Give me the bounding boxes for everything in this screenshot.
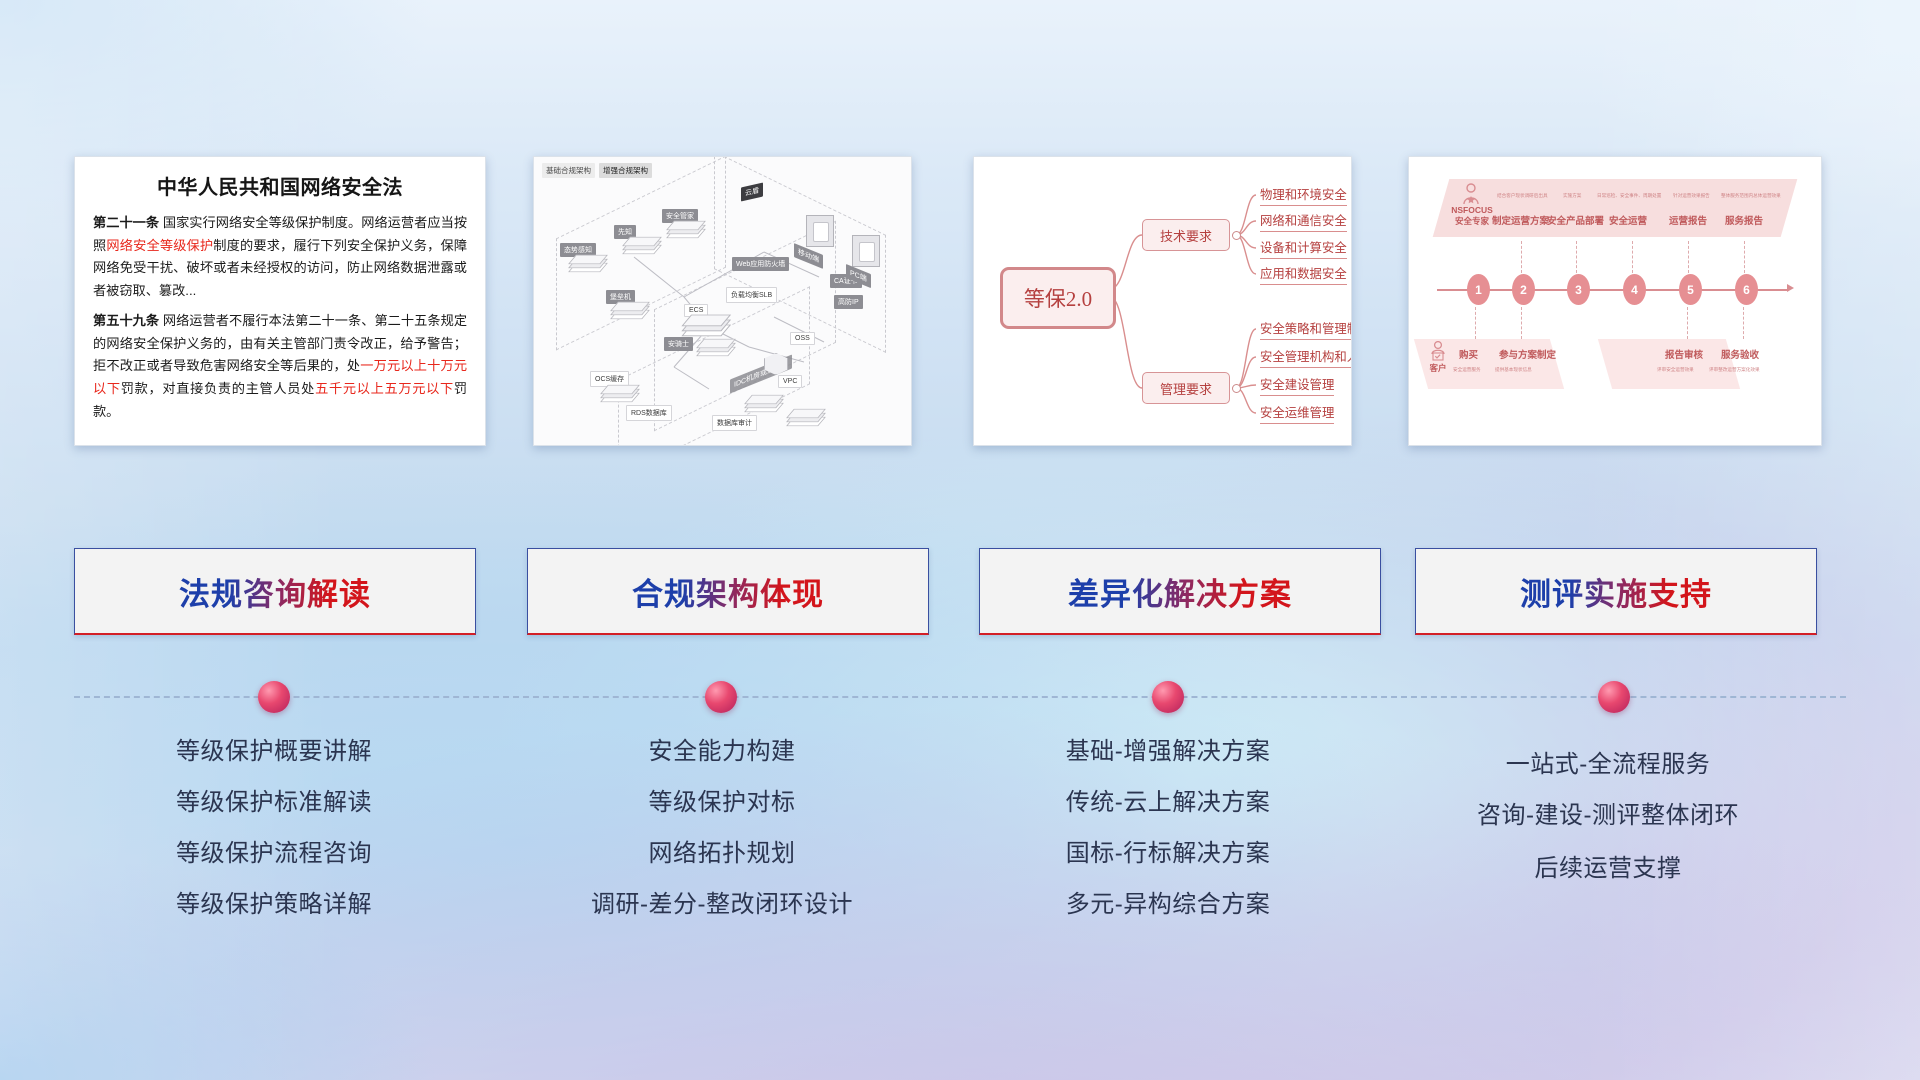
section-items-column-4: 一站式-全流程服务 咨询-建设-测评整体闭环 后续运营支撑	[1398, 740, 1818, 908]
list-item: 调研-差分-整改闭环设计	[512, 893, 932, 917]
rail-dot-3[interactable]	[1152, 681, 1184, 713]
list-item: 后续运营支撑	[1398, 857, 1818, 881]
rail-dot-2[interactable]	[705, 681, 737, 713]
section-heading-box-2[interactable]: 合规架构体现	[527, 548, 929, 635]
list-item: 等级保护标准解读	[64, 791, 484, 815]
section-heading-label-1: 法规咨询解读	[179, 569, 371, 614]
divider-rail	[74, 696, 1846, 700]
list-item: 网络拓扑规划	[512, 842, 932, 866]
list-item: 国标-行标解决方案	[958, 842, 1378, 866]
list-item: 一站式-全流程服务	[1398, 753, 1818, 777]
list-item: 等级保护对标	[512, 791, 932, 815]
list-item: 等级保护流程咨询	[64, 842, 484, 866]
list-item: 等级保护策略详解	[64, 893, 484, 917]
list-item: 安全能力构建	[512, 740, 932, 764]
list-item: 传统-云上解决方案	[958, 791, 1378, 815]
list-item: 多元-异构综合方案	[958, 893, 1378, 917]
section-items-column-2: 安全能力构建 等级保护对标 网络拓扑规划 调研-差分-整改闭环设计	[512, 740, 932, 944]
section-heading-box-1[interactable]: 法规咨询解读	[74, 548, 476, 635]
section-heading-label-4: 测评实施支持	[1520, 569, 1712, 614]
section-heading-box-4[interactable]: 测评实施支持	[1415, 548, 1817, 635]
section-heading-box-3[interactable]: 差异化解决方案	[979, 548, 1381, 635]
section-items-column-1: 等级保护概要讲解 等级保护标准解读 等级保护流程咨询 等级保护策略详解	[64, 740, 484, 944]
section-heading-label-3: 差异化解决方案	[1068, 569, 1292, 614]
list-item: 等级保护概要讲解	[64, 740, 484, 764]
list-item: 咨询-建设-测评整体闭环	[1398, 804, 1818, 828]
list-item: 基础-增强解决方案	[958, 740, 1378, 764]
section-heading-label-2: 合规架构体现	[632, 569, 824, 614]
rail-dot-1[interactable]	[258, 681, 290, 713]
section-items-column-3: 基础-增强解决方案 传统-云上解决方案 国标-行标解决方案 多元-异构综合方案	[958, 740, 1378, 944]
rail-dot-4[interactable]	[1598, 681, 1630, 713]
